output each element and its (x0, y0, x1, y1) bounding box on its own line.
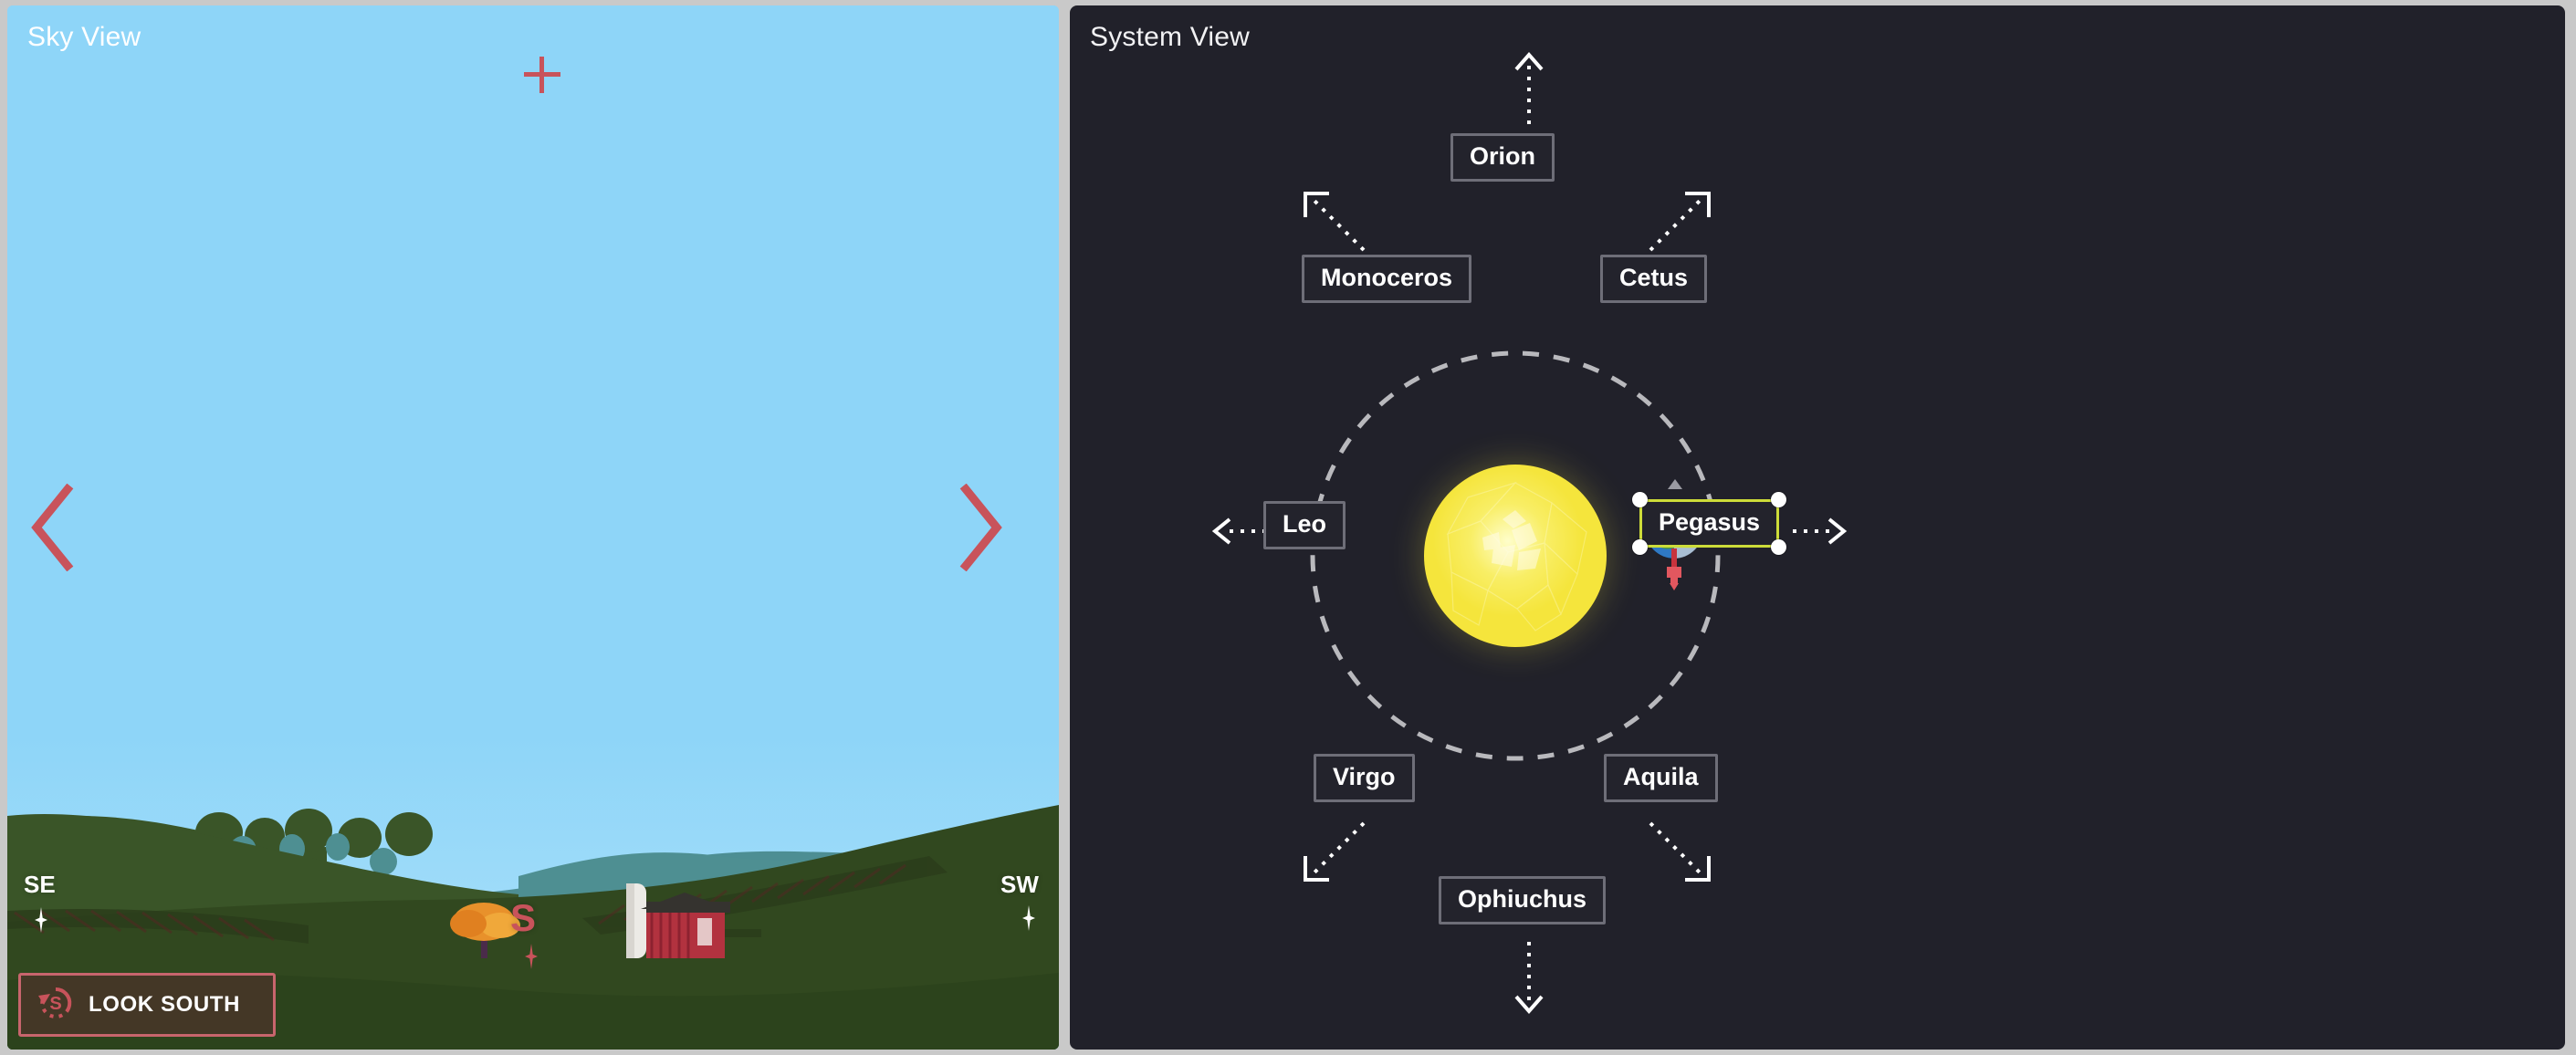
constellation-label-aquila[interactable]: Aquila (1604, 754, 1718, 802)
chevron-left-icon[interactable] (27, 484, 79, 571)
arrow-left-leo (1209, 515, 1268, 548)
arrow-right-pegasus (1791, 515, 1849, 548)
constellation-label-cetus[interactable]: Cetus (1600, 255, 1707, 303)
compass-tick-se (35, 907, 47, 933)
compass-tick-s (525, 944, 538, 969)
observer-icon (1666, 548, 1682, 590)
look-south-label: LOOK SOUTH (89, 992, 240, 1018)
sky-view-title: Sky View (27, 22, 141, 53)
look-south-button[interactable]: S LOOK SOUTH (18, 973, 276, 1037)
system-view-title: System View (1090, 22, 1250, 53)
constellation-label-orion[interactable]: Orion (1450, 133, 1555, 182)
app-root: Sky View (0, 0, 2576, 1055)
constellation-label-virgo[interactable]: Virgo (1314, 754, 1415, 802)
constellation-label-leo[interactable]: Leo (1263, 501, 1346, 549)
resize-handle-top-right[interactable] (1771, 492, 1786, 507)
sun[interactable] (1424, 465, 1607, 647)
arrow-down-ophiuchus (1513, 940, 1545, 1017)
constellation-label-monoceros[interactable]: Monoceros (1302, 255, 1471, 303)
arrow-down-right-aquila (1641, 816, 1716, 887)
arrow-up-left-monoceros (1298, 186, 1373, 257)
svg-text:S: S (49, 994, 61, 1014)
compass-tick-sw (1022, 905, 1035, 931)
chevron-right-icon[interactable] (955, 484, 1006, 571)
rotate-south-icon: S (36, 983, 76, 1028)
compass-label-se: SE (24, 871, 56, 899)
constellation-label-pegasus[interactable]: Pegasus (1639, 499, 1779, 548)
arrow-down-left-virgo (1298, 816, 1373, 887)
system-view-panel: System View (1070, 5, 2565, 1050)
north-pole-icon (1668, 479, 1682, 489)
constellation-label-pegasus-text: Pegasus (1659, 508, 1760, 536)
sky-view-panel: Sky View (7, 5, 1059, 1050)
compass-label-s: S (510, 896, 536, 940)
arrow-up-orion (1513, 49, 1545, 126)
constellation-label-ophiuchus[interactable]: Ophiuchus (1439, 876, 1606, 924)
arrow-up-right-cetus (1641, 186, 1716, 257)
compass-label-sw: SW (1000, 871, 1039, 899)
resize-handle-top-left[interactable] (1632, 492, 1648, 507)
plus-marker-icon (524, 57, 560, 93)
